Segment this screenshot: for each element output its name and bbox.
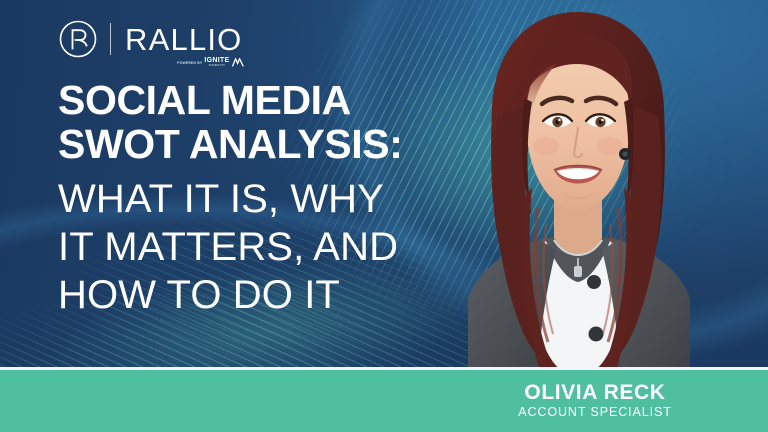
rallio-logo: RALLIO POWERED BY IGNITE VISIBILITY	[58, 19, 242, 59]
speaker-name: OLIVIA RECK	[524, 382, 665, 404]
rallio-wordmark: RALLIO	[125, 22, 242, 57]
presentation-slide: RALLIO POWERED BY IGNITE VISIBILITY SOCI…	[0, 0, 768, 432]
headline-line-3: WHAT IT IS, WHY	[58, 175, 528, 223]
rallio-monogram-icon	[58, 19, 98, 59]
headline-line-2: SWOT ANALYSIS:	[58, 122, 528, 166]
ignite-tagline-label: VISIBILITY	[209, 65, 226, 68]
headline-subtitle: WHAT IT IS, WHY IT MATTERS, AND HOW TO D…	[58, 175, 528, 319]
speaker-role: ACCOUNT SPECIALIST	[518, 406, 672, 419]
ignite-prefix-label: POWERED BY	[177, 61, 202, 65]
headline-line-5: HOW TO DO IT	[58, 271, 528, 319]
logo-text-wrap: RALLIO POWERED BY IGNITE VISIBILITY	[125, 24, 242, 55]
headline-line-1: SOCIAL MEDIA	[58, 78, 528, 122]
headline-line-4: IT MATTERS, AND	[58, 223, 528, 271]
ignite-endorsement: POWERED BY IGNITE VISIBILITY	[177, 54, 244, 72]
ignite-mark-icon	[232, 54, 244, 72]
ignite-brand: IGNITE VISIBILITY	[204, 57, 229, 67]
logo-divider	[110, 23, 111, 55]
speaker-info: OLIVIA RECK ACCOUNT SPECIALIST	[470, 370, 720, 432]
speaker-bar: OLIVIA RECK ACCOUNT SPECIALIST	[0, 370, 768, 432]
slide-headline: SOCIAL MEDIA SWOT ANALYSIS: WHAT IT IS, …	[58, 78, 528, 319]
